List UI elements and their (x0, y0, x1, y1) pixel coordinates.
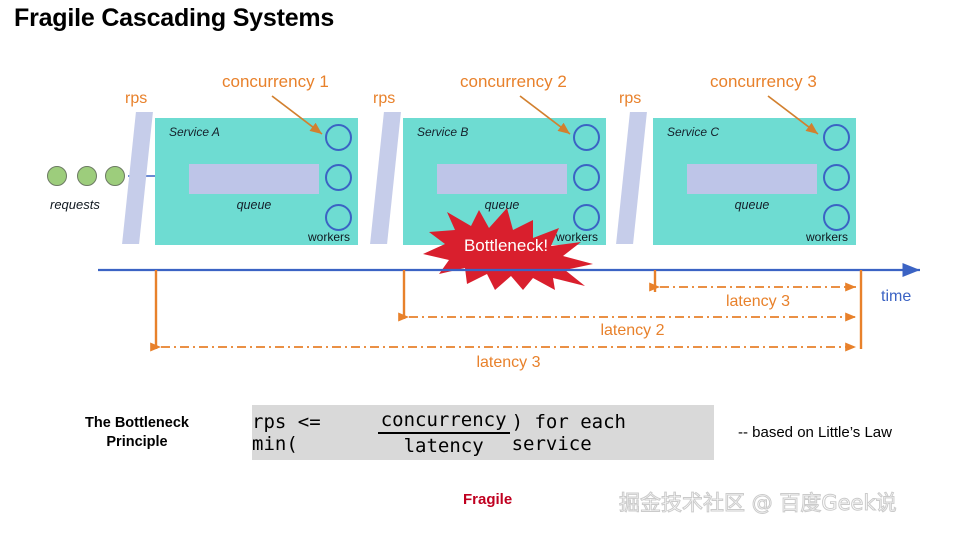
watermark: 掘金技术社区 @ 百度Geek说 (619, 487, 897, 517)
principle-line-2: Principle (62, 433, 212, 452)
latency-label-3-bottom: latency 3 (156, 354, 861, 372)
littles-law-note: -- based on Little’s Law (738, 424, 892, 441)
fragile-label: Fragile (463, 491, 512, 508)
formula: rps <= min( concurrency latency ) for ea… (252, 405, 714, 460)
formula-lead: rps <= min( (252, 411, 376, 455)
principle-line-1: The Bottleneck (62, 414, 212, 433)
bottleneck-principle-title: The Bottleneck Principle (62, 414, 212, 452)
time-axis-label: time (881, 288, 911, 306)
latency-label-3-top: latency 3 (655, 293, 861, 311)
latency-label-2: latency 2 (404, 322, 861, 340)
formula-numerator: concurrency (378, 409, 510, 434)
formula-denominator: latency (401, 434, 487, 457)
formula-fraction: concurrency latency (378, 409, 510, 457)
slide-canvas: Fragile Cascading Systems requests r (0, 0, 960, 540)
formula-tail: ) for each service (512, 411, 714, 455)
